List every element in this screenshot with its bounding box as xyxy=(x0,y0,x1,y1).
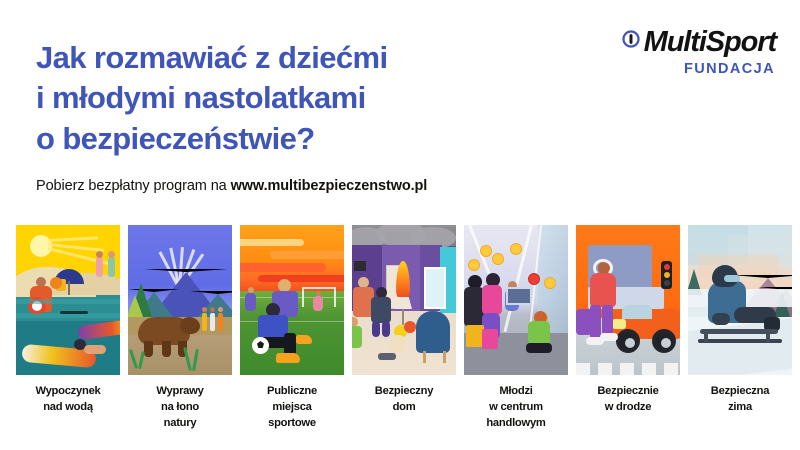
sunset-cloud xyxy=(270,251,344,259)
caption-line: Wypoczynek xyxy=(16,384,120,400)
grass-blade xyxy=(183,347,192,371)
sad-child-shoes xyxy=(526,343,552,353)
caption-line: miejsca xyxy=(240,400,344,416)
topic-card-bezpieczna-zima[interactable] xyxy=(688,225,792,375)
poster-canvas: Jak rozmawiać z dziećmi i młodymi nastol… xyxy=(0,0,800,450)
bear-leg xyxy=(162,341,171,357)
beachgoer-head xyxy=(96,251,103,258)
grass-blade xyxy=(192,349,199,371)
sled-strut xyxy=(704,333,708,342)
topic-card-wypoczynek-nad-woda[interactable] xyxy=(16,225,120,375)
grass-blade xyxy=(138,351,145,369)
swimmer-arm xyxy=(84,345,106,354)
caption-line: Młodzi xyxy=(464,384,568,400)
website-url[interactable]: www.multibezpieczenstwo.pl xyxy=(231,178,428,194)
background-player xyxy=(245,293,256,311)
teen-body xyxy=(464,287,484,327)
chair-leg xyxy=(443,351,446,363)
mall-kiosk xyxy=(506,287,532,305)
multisport-mark-icon xyxy=(622,30,640,48)
background-player xyxy=(313,296,323,311)
pedestrian-leg xyxy=(602,305,613,335)
paddle xyxy=(60,311,88,314)
car-headlight xyxy=(612,319,626,329)
brand-logo: MultiSport FUNDACJA xyxy=(576,28,776,77)
backpack xyxy=(576,309,592,335)
topic-card-bezpieczny-dom[interactable] xyxy=(352,225,456,375)
toddler-body xyxy=(352,326,362,348)
headline-line-1: Jak rozmawiać z dziećmi xyxy=(36,38,576,78)
beachgoer-head xyxy=(108,251,115,258)
football-boot xyxy=(296,335,312,344)
caption-line: Bezpieczna xyxy=(688,384,792,400)
page-title: Jak rozmawiać z dziećmi i młodymi nastol… xyxy=(36,38,576,159)
topic-card-mlodzi-w-centrum-handlowym[interactable] xyxy=(464,225,568,375)
crosswalk-stripe xyxy=(576,363,590,375)
crosswalk-stripe xyxy=(620,363,634,375)
emoji-bubble xyxy=(468,259,480,271)
sun-ray xyxy=(48,236,98,242)
caption-publiczne-miejsca-sportowe: Publiczne miejsca sportowe xyxy=(240,384,344,432)
logo-wordmark: MultiSport xyxy=(644,28,776,57)
sad-child-body xyxy=(528,321,550,345)
hiker-head xyxy=(202,307,207,312)
paddleboard xyxy=(77,320,120,341)
toy-doll xyxy=(390,335,405,353)
caption-line: na łono xyxy=(128,400,232,416)
traffic-light xyxy=(661,261,672,289)
topic-card-bezpiecznie-w-drodze[interactable] xyxy=(576,225,680,375)
bear-head xyxy=(180,317,200,334)
hiker xyxy=(210,313,215,331)
emoji-bubble xyxy=(480,245,492,257)
caption-line: Bezpiecznie xyxy=(576,384,680,400)
caption-bezpieczny-dom: Bezpieczny dom xyxy=(352,384,456,432)
caption-line: sportowe xyxy=(240,416,344,432)
crosswalk-stripe xyxy=(598,363,612,375)
child-leg xyxy=(382,321,390,337)
water-wave xyxy=(16,299,120,304)
child-body xyxy=(371,297,391,323)
wall-picture xyxy=(354,261,366,271)
pitch-line xyxy=(240,321,344,322)
caption-line: Publiczne xyxy=(240,384,344,400)
traffic-light-green xyxy=(664,280,670,286)
emoji-bubble-angry xyxy=(528,273,540,285)
topic-caption-row: Wypoczynek nad wodą Wyprawy na łono natu… xyxy=(16,384,784,432)
caption-wypoczynek-nad-woda: Wypoczynek nad wodą xyxy=(16,384,120,432)
sunset-cloud xyxy=(258,275,344,282)
glove xyxy=(712,313,730,325)
pedestrian-body xyxy=(590,273,616,307)
emoji-bubble xyxy=(492,253,504,265)
beach-ball xyxy=(50,277,62,289)
headline-line-3: o bezpieczeństwie? xyxy=(36,119,576,159)
traffic-light-red xyxy=(664,264,670,270)
slipper xyxy=(378,353,396,360)
sky-facet xyxy=(698,255,778,277)
caption-line: nad wodą xyxy=(16,400,120,416)
crosswalk-stripe xyxy=(642,363,656,375)
grass-blade xyxy=(129,349,138,369)
hiker xyxy=(218,313,223,331)
car-windshield xyxy=(622,305,652,319)
caption-line: zima xyxy=(688,400,792,416)
shopping-bag xyxy=(482,329,498,349)
caption-wyprawy-na-lono-natury: Wyprawy na łono natury xyxy=(128,384,232,432)
caption-line: w drodze xyxy=(576,400,680,416)
chair-leg xyxy=(423,351,426,363)
subheadline-prefix: Pobierz bezpłatny program na xyxy=(36,178,231,194)
window xyxy=(424,267,446,309)
caption-mlodzi-w-centrum-handlowym: Młodzi w centrum handlowym xyxy=(464,384,568,432)
bear-leg xyxy=(144,341,153,357)
child-leg xyxy=(372,321,380,337)
armchair xyxy=(416,311,450,353)
teen-body xyxy=(482,285,502,315)
football-boot xyxy=(276,353,300,363)
football-icon xyxy=(252,337,269,354)
headline-line-2: i młodymi nastolatkami xyxy=(36,78,576,118)
lamp-stand xyxy=(402,309,404,325)
beachgoer xyxy=(108,257,115,277)
caption-line: Wyprawy xyxy=(128,384,232,400)
sled-strut xyxy=(766,333,770,342)
toy-ball xyxy=(404,321,416,333)
ski-goggles-icon xyxy=(724,275,740,282)
subheadline: Pobierz bezpłatny program na www.multibe… xyxy=(36,178,427,194)
umbrella-pole xyxy=(68,281,70,295)
traffic-light-amber xyxy=(664,272,670,278)
caption-line: dom xyxy=(352,400,456,416)
sunset-cloud xyxy=(240,239,304,246)
topic-card-wyprawy-na-lono-natury[interactable] xyxy=(128,225,232,375)
caption-line: Bezpieczny xyxy=(352,384,456,400)
emoji-bubble xyxy=(510,243,522,255)
beachgoer xyxy=(96,257,103,277)
hiker-head xyxy=(210,307,215,312)
topic-card-strip xyxy=(16,225,784,375)
hiker-head xyxy=(218,307,223,312)
caption-bezpieczna-zima: Bezpieczna zima xyxy=(688,384,792,432)
caption-bezpiecznie-w-drodze: Bezpiecznie w drodze xyxy=(576,384,680,432)
caption-line: natury xyxy=(128,416,232,432)
crosswalk-stripe xyxy=(664,363,678,375)
emoji-bubble xyxy=(544,277,556,289)
hiker xyxy=(202,313,207,331)
caption-line: handlowym xyxy=(464,416,568,432)
sunset-cloud xyxy=(240,263,326,272)
logo-tagline: FUNDACJA xyxy=(576,61,775,77)
sneaker xyxy=(600,333,618,341)
topic-card-publiczne-miejsca-sportowe[interactable] xyxy=(240,225,344,375)
caption-line: w centrum xyxy=(464,400,568,416)
